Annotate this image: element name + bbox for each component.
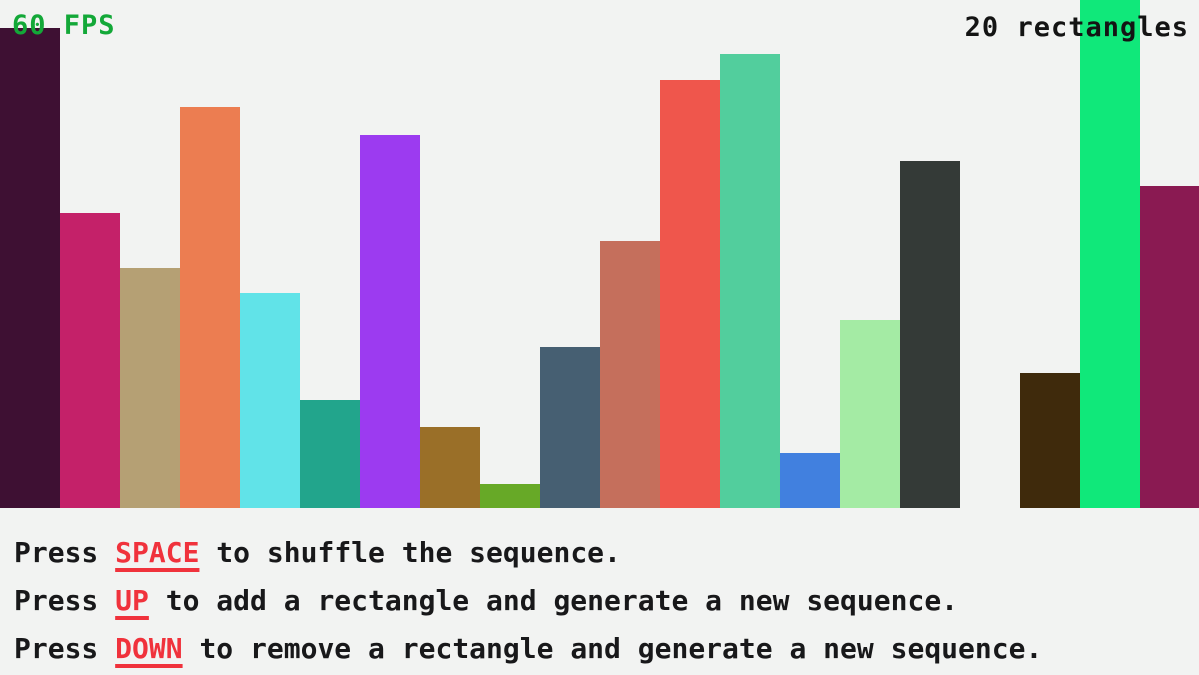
bar-rectangle: [720, 54, 780, 508]
bar-rectangle: [480, 484, 540, 508]
bar-rectangle: [0, 28, 60, 508]
fps-counter: 60 FPS: [12, 12, 116, 39]
bar-rectangle: [240, 293, 300, 508]
instruction-prefix: Press: [14, 632, 115, 665]
bar-rectangle: [780, 453, 840, 508]
bar-rectangle: [60, 213, 120, 508]
bar-rectangle: [360, 135, 420, 508]
instructions-panel: Press SPACE to shuffle the sequence.Pres…: [0, 515, 1199, 675]
bar-rectangle: [1020, 373, 1080, 508]
key-space[interactable]: SPACE: [115, 536, 199, 569]
app-root: 60 FPS 20 rectangles Press SPACE to shuf…: [0, 0, 1199, 675]
instruction-line: Press UP to add a rectangle and generate…: [14, 577, 1199, 625]
instruction-prefix: Press: [14, 584, 115, 617]
rectangle-canvas[interactable]: [0, 0, 1199, 515]
bar-rectangle: [1080, 0, 1140, 508]
instruction-suffix: to remove a rectangle and generate a new…: [183, 632, 1043, 665]
rectangle-count-label: 20 rectangles: [965, 14, 1189, 41]
bar-rectangle: [900, 161, 960, 508]
bar-rectangle: [600, 241, 660, 508]
bar-rectangle: [180, 107, 240, 508]
bar-rectangle: [300, 400, 360, 508]
bar-rectangle: [1140, 186, 1199, 508]
instruction-suffix: to shuffle the sequence.: [199, 536, 620, 569]
bar-rectangle: [840, 320, 900, 508]
instruction-prefix: Press: [14, 536, 115, 569]
key-up[interactable]: UP: [115, 584, 149, 617]
bar-rectangle: [420, 427, 480, 508]
key-down[interactable]: DOWN: [115, 632, 182, 665]
instruction-suffix: to add a rectangle and generate a new se…: [149, 584, 958, 617]
instruction-line: Press DOWN to remove a rectangle and gen…: [14, 625, 1199, 673]
bar-rectangle: [540, 347, 600, 508]
bar-rectangle: [120, 268, 180, 508]
instruction-line: Press SPACE to shuffle the sequence.: [14, 529, 1199, 577]
bar-rectangle: [660, 80, 720, 508]
